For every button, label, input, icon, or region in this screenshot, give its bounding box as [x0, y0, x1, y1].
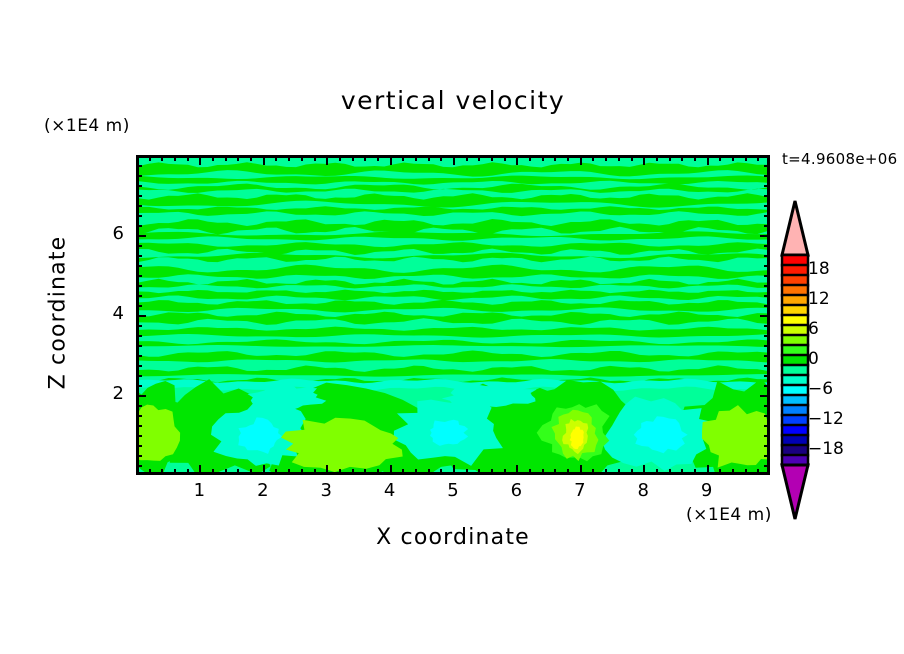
x-tick-bottom	[352, 469, 354, 475]
x-tick-top	[250, 155, 252, 161]
x-tick-top	[288, 155, 290, 161]
x-tick-bottom	[618, 469, 620, 475]
page-title: vertical velocity	[136, 86, 770, 115]
x-tick-bottom	[567, 469, 569, 475]
x-tick-bottom	[732, 469, 734, 475]
x-tick-top	[656, 155, 658, 161]
y-tick-left	[136, 405, 142, 407]
y-tick-left	[136, 445, 142, 447]
x-tick-top	[605, 155, 607, 161]
x-tick-bottom	[656, 469, 658, 475]
x-tick-bottom	[466, 469, 468, 475]
x-tick-top	[161, 155, 163, 161]
x-tick-bottom	[364, 469, 366, 475]
x-tick-top	[567, 155, 569, 161]
y-tick-left	[136, 215, 142, 217]
y-tick-left	[136, 345, 142, 347]
x-tick-top	[554, 155, 556, 161]
x-tick-top	[390, 155, 392, 165]
x-tick-top	[326, 155, 328, 165]
x-tick-bottom	[187, 469, 189, 475]
colorbar-tick-label: 18	[808, 259, 830, 279]
y-tick-label: 6	[84, 223, 124, 244]
timestamp-label: t=4.9608e+06	[782, 150, 897, 168]
y-tick-left	[136, 295, 142, 297]
y-tick-left	[136, 455, 142, 457]
x-tick-top	[402, 155, 404, 161]
x-tick-top	[592, 155, 594, 161]
y-tick-right	[764, 185, 770, 187]
x-tick-bottom	[161, 469, 163, 475]
y-tick-left	[136, 335, 142, 337]
plot-area	[136, 155, 770, 475]
x-tick-bottom	[263, 465, 265, 475]
x-tick-top	[732, 155, 734, 161]
y-axis-title: Z coordinate	[46, 213, 71, 413]
x-tick-bottom	[719, 469, 721, 475]
y-tick-label: 2	[84, 383, 124, 404]
x-tick-bottom	[275, 469, 277, 475]
colorbar-tick-label: 0	[808, 349, 819, 369]
x-tick-bottom	[504, 469, 506, 475]
y-tick-left	[136, 435, 142, 437]
x-tick-bottom	[681, 469, 683, 475]
y-tick-left	[136, 255, 142, 257]
x-tick-top	[199, 155, 201, 165]
x-tick-top	[440, 155, 442, 161]
colorbar-tick-label: −12	[808, 409, 844, 429]
x-tick-bottom	[415, 469, 417, 475]
x-tick-top	[643, 155, 645, 165]
colorbar-tick-label: −6	[808, 379, 833, 399]
x-tick-bottom	[326, 465, 328, 475]
x-tick-top	[719, 155, 721, 161]
x-tick-top	[352, 155, 354, 161]
x-tick-bottom	[440, 469, 442, 475]
x-tick-top	[681, 155, 683, 161]
x-tick-bottom	[212, 469, 214, 475]
x-axis-title: X coordinate	[136, 525, 770, 550]
y-tick-left	[136, 365, 142, 367]
x-tick-bottom	[580, 465, 582, 475]
x-tick-bottom	[669, 469, 671, 475]
x-tick-bottom	[542, 469, 544, 475]
x-tick-bottom	[199, 465, 201, 475]
x-tick-bottom	[529, 469, 531, 475]
x-tick-label: 7	[560, 480, 600, 501]
x-tick-top	[377, 155, 379, 161]
x-tick-bottom	[149, 469, 151, 475]
x-tick-bottom	[390, 465, 392, 475]
y-tick-left	[136, 355, 142, 357]
x-tick-top	[516, 155, 518, 165]
x-tick-label: 9	[687, 480, 727, 501]
x-tick-bottom	[605, 469, 607, 475]
x-tick-bottom	[402, 469, 404, 475]
x-tick-top	[745, 155, 747, 161]
x-tick-bottom	[453, 465, 455, 475]
x-tick-bottom	[288, 469, 290, 475]
x-tick-top	[631, 155, 633, 161]
y-axis-unit-label: (×1E4 m)	[44, 116, 130, 136]
y-tick-left	[136, 175, 142, 177]
x-tick-bottom	[694, 469, 696, 475]
y-tick-left	[136, 305, 142, 307]
contour-figure: vertical velocity (×1E4 m) (×1E4 m) t=4.…	[0, 0, 904, 654]
x-tick-bottom	[707, 465, 709, 475]
x-tick-top	[275, 155, 277, 161]
x-tick-label: 2	[243, 480, 283, 501]
x-tick-top	[149, 155, 151, 161]
colorbar-swatches	[770, 195, 830, 525]
x-tick-bottom	[377, 469, 379, 475]
x-tick-top	[415, 155, 417, 161]
y-tick-left	[136, 425, 142, 427]
x-tick-label: 1	[179, 480, 219, 501]
x-tick-top	[669, 155, 671, 161]
y-tick-left	[136, 265, 142, 267]
x-tick-bottom	[339, 469, 341, 475]
y-tick-left	[136, 325, 142, 327]
y-tick-label: 4	[84, 303, 124, 324]
x-tick-top	[301, 155, 303, 161]
y-tick-right	[760, 235, 770, 237]
x-tick-top	[237, 155, 239, 161]
x-tick-top	[542, 155, 544, 161]
x-tick-bottom	[225, 469, 227, 475]
colorbar-tick-label: −18	[808, 439, 844, 459]
x-tick-bottom	[554, 469, 556, 475]
x-tick-top	[428, 155, 430, 161]
x-tick-top	[187, 155, 189, 161]
y-tick-left	[136, 185, 142, 187]
x-tick-label: 4	[370, 480, 410, 501]
y-tick-left	[136, 315, 146, 317]
x-tick-top	[466, 155, 468, 161]
contour-field	[139, 158, 767, 472]
colorbar	[770, 195, 830, 525]
x-tick-top	[694, 155, 696, 161]
x-tick-bottom	[745, 469, 747, 475]
y-tick-left	[136, 395, 146, 397]
x-tick-bottom	[314, 469, 316, 475]
x-tick-bottom	[174, 469, 176, 475]
x-tick-label: 6	[496, 480, 536, 501]
x-tick-top	[212, 155, 214, 161]
y-tick-left	[136, 235, 146, 237]
x-tick-bottom	[757, 469, 759, 475]
y-tick-left	[136, 275, 142, 277]
y-tick-left	[136, 375, 142, 377]
x-tick-label: 8	[623, 480, 663, 501]
x-tick-bottom	[643, 465, 645, 475]
y-tick-left	[136, 285, 142, 287]
y-tick-right	[760, 315, 770, 317]
x-tick-top	[478, 155, 480, 161]
y-tick-left	[136, 195, 142, 197]
x-tick-top	[263, 155, 265, 165]
x-tick-bottom	[491, 469, 493, 475]
x-tick-top	[314, 155, 316, 161]
x-tick-top	[339, 155, 341, 161]
x-tick-bottom	[428, 469, 430, 475]
colorbar-tick-label: 6	[808, 319, 819, 339]
y-tick-left	[136, 205, 142, 207]
x-tick-label: 3	[306, 480, 346, 501]
y-tick-right	[760, 395, 770, 397]
x-tick-top	[504, 155, 506, 161]
x-tick-top	[225, 155, 227, 161]
y-tick-right	[764, 165, 770, 167]
x-tick-top	[757, 155, 759, 161]
x-tick-label: 5	[433, 480, 473, 501]
y-tick-right	[764, 175, 770, 177]
x-tick-top	[453, 155, 455, 165]
y-tick-left	[136, 165, 142, 167]
colorbar-tick-label: 12	[808, 289, 830, 309]
y-tick-left	[136, 385, 142, 387]
y-tick-left	[136, 245, 142, 247]
y-tick-left	[136, 465, 142, 467]
x-tick-bottom	[250, 469, 252, 475]
x-tick-top	[618, 155, 620, 161]
x-tick-top	[174, 155, 176, 161]
x-tick-top	[491, 155, 493, 161]
x-tick-top	[580, 155, 582, 165]
y-tick-left	[136, 225, 142, 227]
x-tick-top	[364, 155, 366, 161]
x-tick-bottom	[478, 469, 480, 475]
x-tick-top	[529, 155, 531, 161]
x-tick-bottom	[592, 469, 594, 475]
x-axis-unit-label: (×1E4 m)	[686, 505, 772, 525]
x-tick-bottom	[516, 465, 518, 475]
x-tick-top	[707, 155, 709, 165]
x-tick-bottom	[237, 469, 239, 475]
y-tick-left	[136, 415, 142, 417]
x-tick-bottom	[301, 469, 303, 475]
x-tick-bottom	[631, 469, 633, 475]
